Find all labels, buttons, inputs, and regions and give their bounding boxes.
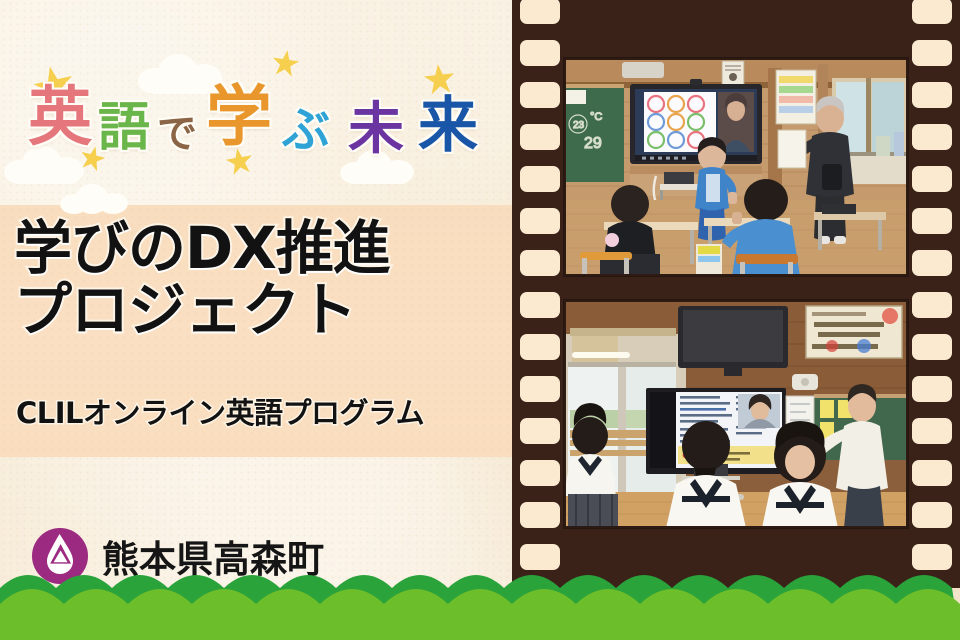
heading-char-0: 英 xyxy=(28,86,92,150)
perforation xyxy=(520,250,560,276)
perforation xyxy=(912,0,952,24)
perforation xyxy=(912,292,952,318)
perforation xyxy=(912,334,952,360)
perforation xyxy=(520,334,560,360)
heading-char-3: 学 xyxy=(206,84,272,150)
heading-char-2: で xyxy=(157,114,197,154)
hill-decoration xyxy=(0,548,960,640)
heading-char-4: ぶ xyxy=(282,106,330,154)
perforation xyxy=(912,166,952,192)
poster-root: 英 語 で 学 ぶ 未 来 学びのDX推進 プロジェクト CLILオンライン英語… xyxy=(0,0,960,640)
title-line-1: 学びのDX推進 xyxy=(14,218,506,278)
svg-text:°C: °C xyxy=(590,111,602,123)
page-title: 学びのDX推進 プロジェクト xyxy=(14,218,506,341)
perforation xyxy=(912,40,952,66)
perforation xyxy=(520,418,560,444)
perforation xyxy=(520,166,560,192)
filmstrip: 23 °C 29 xyxy=(512,0,960,588)
perforation xyxy=(520,40,560,66)
perforation xyxy=(520,502,560,528)
heading-english-future: 英 語 で 学 ぶ 未 来 xyxy=(26,84,496,176)
perforation xyxy=(520,292,560,318)
heading-char-5: 未 xyxy=(348,102,404,158)
perforation xyxy=(912,460,952,486)
svg-text:29: 29 xyxy=(584,135,602,152)
perforation xyxy=(520,82,560,108)
page-subtitle: CLILオンライン英語プログラム xyxy=(16,390,424,432)
perforation xyxy=(912,502,952,528)
perforation xyxy=(520,208,560,234)
svg-text:23: 23 xyxy=(573,120,585,131)
heading-char-1: 語 xyxy=(98,102,150,154)
heading-char-6: 来 xyxy=(418,96,478,156)
filmstrip-photo-2 xyxy=(564,300,908,528)
hill-front-layer xyxy=(0,589,960,640)
title-line-2: プロジェクト xyxy=(14,280,506,340)
perforation xyxy=(912,208,952,234)
perforation xyxy=(520,376,560,402)
filmstrip-photo-1: 23 °C 29 xyxy=(564,58,908,276)
perforation xyxy=(912,418,952,444)
perforation xyxy=(912,124,952,150)
perforation xyxy=(912,250,952,276)
perforation xyxy=(912,376,952,402)
perforation xyxy=(520,124,560,150)
perforation xyxy=(912,82,952,108)
perforation xyxy=(520,460,560,486)
perforation xyxy=(520,0,560,24)
